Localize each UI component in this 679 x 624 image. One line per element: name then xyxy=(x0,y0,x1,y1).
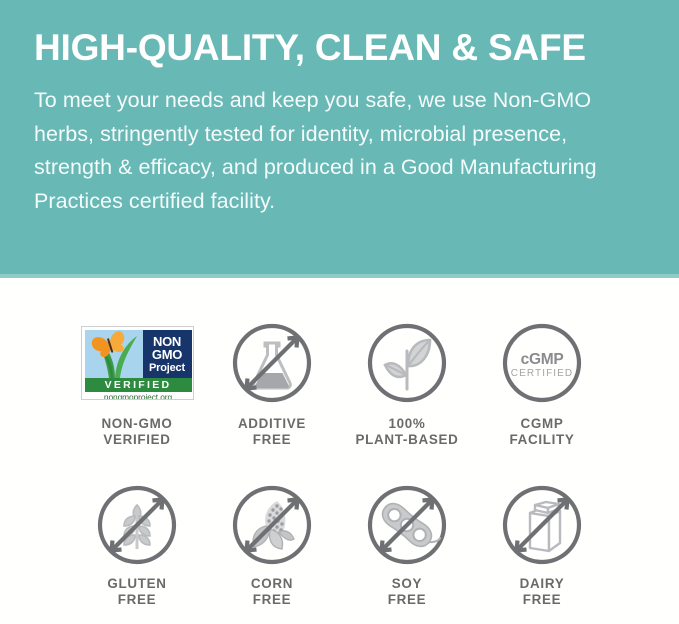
badge-label: 100% PLANT-BASED xyxy=(356,416,459,448)
no-dairy-carton-icon xyxy=(502,485,582,565)
badge-row-1: NON GMO Project VERIFIED nongmoproject.o… xyxy=(0,277,679,450)
hero-banner: HIGH-QUALITY, CLEAN & SAFE To meet your … xyxy=(0,0,679,277)
badge-corn-free: CORN FREE xyxy=(206,450,339,608)
plant-leaves-icon-slot xyxy=(365,321,449,405)
no-flask-icon xyxy=(232,323,312,403)
no-flask-icon-slot xyxy=(230,321,314,405)
no-wheat-icon-slot xyxy=(95,483,179,567)
badge-additive-free: ADDITIVE FREE xyxy=(206,277,339,448)
seal-line-gmo: GMO xyxy=(152,348,182,362)
certification-badge-grid: NON GMO Project VERIFIED nongmoproject.o… xyxy=(0,277,679,624)
badge-label: ADDITIVE FREE xyxy=(238,416,306,448)
cgmp-certified-icon-slot: cGMP CERTIFIED xyxy=(500,321,584,405)
badge-soy-free: SOY FREE xyxy=(341,450,474,608)
plant-leaves-icon xyxy=(367,323,447,403)
svg-text:cGMP: cGMP xyxy=(521,351,564,368)
no-soy-icon-slot xyxy=(365,483,449,567)
seal-url: nongmoproject.org xyxy=(85,392,192,400)
product-claims-panel: HIGH-QUALITY, CLEAN & SAFE To meet your … xyxy=(0,0,679,624)
seal-wordmark-panel: NON GMO Project xyxy=(143,330,192,378)
badge-plant-based: 100% PLANT-BASED xyxy=(341,277,474,448)
badge-non-gmo-verified: NON GMO Project VERIFIED nongmoproject.o… xyxy=(71,277,204,448)
badge-dairy-free: DAIRY FREE xyxy=(476,450,609,608)
no-corn-icon xyxy=(232,485,312,565)
badge-label: CGMP FACILITY xyxy=(509,416,574,448)
seal-line-project: Project xyxy=(149,362,185,374)
badge-label: NON-GMO VERIFIED xyxy=(101,416,172,448)
badge-label: GLUTEN FREE xyxy=(107,576,166,608)
seal-artwork: NON GMO Project xyxy=(85,330,192,378)
badge-cgmp-facility: cGMP CERTIFIED CGMP FACILITY xyxy=(476,277,609,448)
badge-row-2: GLUTEN FREE xyxy=(0,450,679,623)
svg-text:CERTIFIED: CERTIFIED xyxy=(511,368,574,379)
page-title: HIGH-QUALITY, CLEAN & SAFE xyxy=(34,26,645,70)
butterfly-grass-icon xyxy=(85,330,143,378)
badge-label: CORN FREE xyxy=(251,576,293,608)
cgmp-certified-icon: cGMP CERTIFIED xyxy=(502,323,582,403)
no-corn-icon-slot xyxy=(230,483,314,567)
seal-sky-panel xyxy=(85,330,143,378)
no-wheat-icon xyxy=(97,485,177,565)
badge-label: SOY FREE xyxy=(388,576,427,608)
badge-label: DAIRY FREE xyxy=(520,576,565,608)
non-gmo-seal-slot: NON GMO Project VERIFIED nongmoproject.o… xyxy=(79,321,195,405)
seal-line-non: NON xyxy=(153,335,181,348)
seal-verified-bar: VERIFIED xyxy=(85,378,192,392)
no-soy-icon xyxy=(367,485,447,565)
no-dairy-carton-icon-slot xyxy=(500,483,584,567)
hero-description: To meet your needs and keep you safe, we… xyxy=(34,84,634,218)
badge-gluten-free: GLUTEN FREE xyxy=(71,450,204,608)
non-gmo-project-verified-seal: NON GMO Project VERIFIED nongmoproject.o… xyxy=(81,326,194,400)
